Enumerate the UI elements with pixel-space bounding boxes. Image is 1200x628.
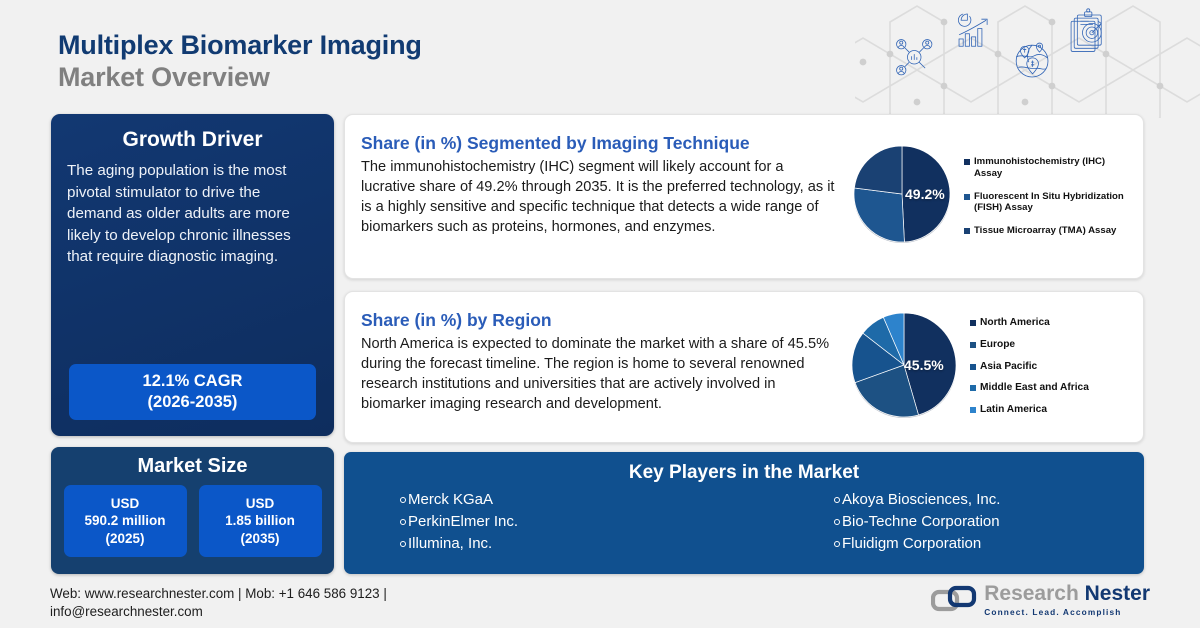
- globe-finance-icon: [1016, 43, 1048, 77]
- cagr-value: 12.1% CAGR: [143, 371, 243, 392]
- circle-bullet-icon: [834, 519, 840, 525]
- key-player-name: PerkinElmer Inc.: [408, 511, 518, 533]
- legend-swatch-icon: [970, 342, 976, 348]
- legend-label: Tissue Microarray (TMA) Assay: [974, 225, 1116, 237]
- legend-label: North America: [980, 317, 1050, 330]
- market-size-year: (2035): [225, 530, 295, 547]
- hexagon-decoration: [855, 0, 1200, 118]
- circle-bullet-icon: [400, 519, 406, 525]
- logo-word-nester: Nester: [1085, 582, 1150, 605]
- people-network-magnifier-icon: [897, 40, 932, 75]
- region-heading: Share (in %) by Region: [361, 310, 838, 331]
- technique-heading: Share (in %) Segmented by Imaging Techni…: [361, 133, 840, 154]
- technique-text-block: Share (in %) Segmented by Imaging Techni…: [345, 115, 850, 278]
- market-size-currency: USD: [84, 495, 165, 512]
- market-size-currency: USD: [225, 495, 295, 512]
- technique-pie-chart: 49.2%: [850, 142, 954, 251]
- key-player-item: Merck KGaA: [400, 489, 744, 511]
- legend-item[interactable]: Latin America: [970, 404, 1135, 417]
- technique-share-card: Share (in %) Segmented by Imaging Techni…: [344, 114, 1144, 279]
- logo-tagline: Connect. Lead. Accomplish: [984, 607, 1150, 617]
- region-pie-chart: 45.5%: [848, 309, 960, 426]
- circle-bullet-icon: [400, 541, 406, 547]
- legend-swatch-icon: [970, 364, 976, 370]
- pie-slice: [854, 188, 904, 242]
- key-player-item: Akoya Biosciences, Inc.: [834, 489, 1118, 511]
- bar-chart-growth-icon: [958, 14, 987, 46]
- market-size-value: 590.2 million: [84, 512, 165, 529]
- market-size-year: (2025): [84, 530, 165, 547]
- research-nester-logo: Research Nester Connect. Lead. Accomplis…: [931, 583, 1150, 617]
- legend-label: Asia Pacific: [980, 361, 1037, 374]
- key-player-item: Fluidigm Corporation: [834, 533, 1118, 555]
- market-size-panel: Market Size USD 590.2 million (2025) USD…: [51, 447, 334, 574]
- cagr-badge: 12.1% CAGR (2026-2035): [69, 364, 316, 420]
- key-players-title: Key Players in the Market: [370, 462, 1118, 484]
- cagr-period: (2026-2035): [143, 392, 243, 413]
- footer-contact: Web: www.researchnester.com | Mob: +1 64…: [50, 585, 520, 621]
- key-players-panel: Key Players in the Market Merck KGaAPerk…: [344, 452, 1144, 574]
- legend-item[interactable]: Tissue Microarray (TMA) Assay: [964, 225, 1124, 237]
- page-subtitle: Market Overview: [58, 62, 422, 94]
- market-size-value: 1.85 billion: [225, 512, 295, 529]
- page-title: Multiplex Biomarker Imaging: [58, 30, 422, 62]
- legend-item[interactable]: Immunohistochemistry (IHC) Assay: [964, 156, 1124, 180]
- key-player-name: Illumina, Inc.: [408, 533, 492, 555]
- key-player-item: Bio-Techne Corporation: [834, 511, 1118, 533]
- interlocking-links-icon: [931, 585, 977, 615]
- legend-item[interactable]: Fluorescent In Situ Hybridization (FISH)…: [964, 191, 1124, 215]
- region-share-card: Share (in %) by Region North America is …: [344, 291, 1144, 443]
- legend-label: Middle East and Africa: [980, 382, 1089, 395]
- legend-label: Europe: [980, 339, 1015, 352]
- legend-label: Latin America: [980, 404, 1047, 417]
- legend-label: Immunohistochemistry (IHC) Assay: [974, 156, 1124, 180]
- key-player-name: Merck KGaA: [408, 489, 493, 511]
- key-player-name: Bio-Techne Corporation: [842, 511, 1000, 533]
- logo-word-research: Research: [984, 582, 1079, 605]
- legend-swatch-icon: [970, 407, 976, 413]
- legend-label: Fluorescent In Situ Hybridization (FISH)…: [974, 191, 1124, 215]
- market-size-title: Market Size: [63, 455, 322, 478]
- market-size-box-2035: USD 1.85 billion (2035): [199, 485, 322, 557]
- region-body: North America is expected to dominate th…: [361, 335, 838, 414]
- legend-item[interactable]: Asia Pacific: [970, 361, 1135, 374]
- legend-swatch-icon: [970, 320, 976, 326]
- technique-legend: Immunohistochemistry (IHC) AssayFluoresc…: [964, 156, 1124, 238]
- technique-pie-data-label: 49.2%: [905, 186, 945, 202]
- clipboard-target-icon: [1071, 9, 1101, 52]
- technique-chart-area: 49.2% Immunohistochemistry (IHC) AssayFl…: [850, 115, 1143, 278]
- legend-item[interactable]: Middle East and Africa: [970, 382, 1135, 395]
- key-player-item: PerkinElmer Inc.: [400, 511, 744, 533]
- legend-swatch-icon: [964, 159, 970, 165]
- region-legend: North AmericaEuropeAsia PacificMiddle Ea…: [970, 317, 1135, 417]
- circle-bullet-icon: [834, 541, 840, 547]
- pie-slice: [854, 146, 902, 194]
- market-size-box-2025: USD 590.2 million (2025): [64, 485, 187, 557]
- circle-bullet-icon: [834, 497, 840, 503]
- legend-swatch-icon: [964, 194, 970, 200]
- legend-item[interactable]: Europe: [970, 339, 1135, 352]
- key-players-column-left: Merck KGaAPerkinElmer Inc.Illumina, Inc.: [370, 489, 744, 555]
- key-player-name: Akoya Biosciences, Inc.: [842, 489, 1000, 511]
- growth-driver-body: The aging population is the most pivotal…: [67, 160, 318, 268]
- key-player-item: Illumina, Inc.: [400, 533, 744, 555]
- technique-body: The immunohistochemistry (IHC) segment w…: [361, 158, 840, 237]
- legend-swatch-icon: [970, 385, 976, 391]
- key-player-name: Fluidigm Corporation: [842, 533, 981, 555]
- key-players-column-right: Akoya Biosciences, Inc.Bio-Techne Corpor…: [744, 489, 1118, 555]
- infographic-canvas: Multiplex Biomarker Imaging Market Overv…: [0, 0, 1200, 628]
- legend-item[interactable]: North America: [970, 317, 1135, 330]
- page-header: Multiplex Biomarker Imaging Market Overv…: [58, 30, 422, 94]
- region-pie-data-label: 45.5%: [904, 357, 944, 373]
- region-chart-area: 45.5% North AmericaEuropeAsia PacificMid…: [848, 292, 1143, 442]
- circle-bullet-icon: [400, 497, 406, 503]
- legend-swatch-icon: [964, 228, 970, 234]
- growth-driver-panel: Growth Driver The aging population is th…: [51, 114, 334, 436]
- region-text-block: Share (in %) by Region North America is …: [345, 292, 848, 442]
- growth-driver-title: Growth Driver: [67, 128, 318, 152]
